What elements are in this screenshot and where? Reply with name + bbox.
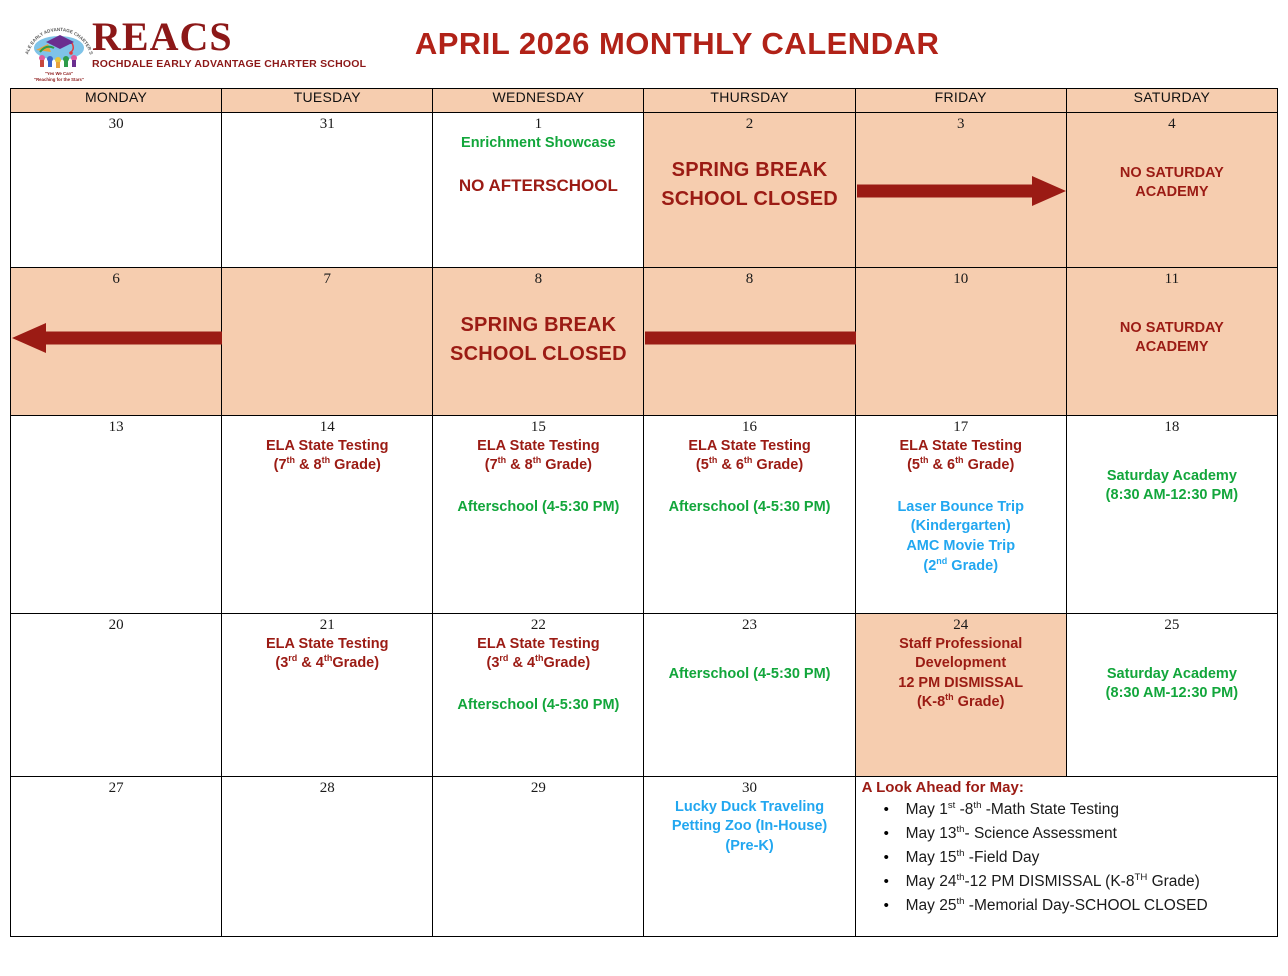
calendar-day-cell-28[interactable]: 28 [222, 777, 433, 937]
day-number: 17 [856, 416, 1066, 437]
event-text: Laser Bounce Trip [860, 498, 1062, 518]
event-text: ELA State Testing [226, 635, 428, 655]
day-number: 6 [11, 268, 221, 289]
calendar-day-cell-2[interactable]: 2SPRING BREAKSCHOOL CLOSED [644, 113, 855, 268]
day-events: SPRING BREAKSCHOOL CLOSED [644, 134, 854, 214]
logo-motto-2: "Reaching for the Stars" [34, 77, 84, 82]
weekday-header-monday: MONDAY [11, 89, 222, 113]
calendar-day-cell-21[interactable]: 21ELA State Testing(3rd & 4thGrade) [222, 614, 433, 777]
event-spacer [437, 476, 639, 498]
day-number: 28 [222, 777, 432, 798]
event-text: Afterschool (4-5:30 PM) [437, 498, 639, 518]
event-text: Lucky Duck Traveling [648, 798, 850, 818]
event-text: ELA State Testing [437, 437, 639, 457]
day-events: ELA State Testing(5th & 6th Grade)Laser … [856, 437, 1066, 576]
event-text: (Pre-K) [648, 837, 850, 857]
event-text: Saturday Academy [1071, 467, 1273, 487]
arrow-layer-week1 [856, 113, 1066, 267]
calendar-day-cell-1[interactable]: 1Enrichment ShowcaseNO AFTERSCHOOL [433, 113, 644, 268]
calendar-day-cell-30[interactable]: 30 [11, 113, 222, 268]
day-number: 10 [856, 268, 1066, 289]
event-spacer [437, 153, 639, 175]
calendar-day-cell-8[interactable]: 8 [644, 268, 855, 416]
weekday-header-tuesday: TUESDAY [222, 89, 433, 113]
calendar-week-row-3: 1314ELA State Testing(7th & 8th Grade)15… [11, 416, 1278, 614]
calendar-day-cell-6[interactable]: 6 [11, 268, 222, 416]
calendar-day-cell-29[interactable]: 29 [433, 777, 644, 937]
calendar-day-cell-4[interactable]: 4NO SATURDAYACADEMY [1066, 113, 1277, 268]
arrow-right-icon [857, 176, 1066, 206]
page-title: APRIL 2026 MONTHLY CALENDAR [366, 26, 1288, 62]
day-events: Lucky Duck TravelingPetting Zoo (In-Hous… [644, 798, 854, 857]
event-text: Staff Professional [860, 635, 1062, 655]
logo-subtitle: ROCHDALE EARLY ADVANTAGE CHARTER SCHOOL [92, 59, 366, 70]
page-header: ROCHDALE EARLY ADVANTAGE CHARTER SCHOOL [0, 0, 1288, 88]
calendar-day-cell-23[interactable]: 23Afterschool (4-5:30 PM) [644, 614, 855, 777]
weekday-header-friday: FRIDAY [855, 89, 1066, 113]
day-number: 2 [644, 113, 854, 134]
look-ahead-block: A Look Ahead for May:May 1st -8th -Math … [856, 777, 1277, 918]
event-text: ELA State Testing [226, 437, 428, 457]
day-events: Saturday Academy(8:30 AM-12:30 PM) [1067, 635, 1277, 704]
weekday-header-thursday: THURSDAY [644, 89, 855, 113]
event-text: AMC Movie Trip [860, 537, 1062, 557]
event-text: (2nd Grade) [860, 557, 1062, 577]
calendar-week-row-5: 27282930Lucky Duck TravelingPetting Zoo … [11, 777, 1278, 937]
day-number: 16 [644, 416, 854, 437]
day-events: NO SATURDAYACADEMY [1067, 289, 1277, 358]
calendar-day-cell-7[interactable]: 7 [222, 268, 433, 416]
event-text: (3rd & 4thGrade) [437, 654, 639, 674]
calendar-day-cell-14[interactable]: 14ELA State Testing(7th & 8th Grade) [222, 416, 433, 614]
event-text: ACADEMY [1071, 338, 1273, 358]
day-number: 30 [644, 777, 854, 798]
look-ahead-may-cell[interactable]: A Look Ahead for May:May 1st -8th -Math … [855, 777, 1277, 937]
calendar-day-cell-25[interactable]: 25Saturday Academy(8:30 AM-12:30 PM) [1066, 614, 1277, 777]
event-text: (K-8th Grade) [860, 693, 1062, 713]
day-events: NO SATURDAYACADEMY [1067, 134, 1277, 203]
weekday-header-row: MONDAYTUESDAYWEDNESDAYTHURSDAYFRIDAYSATU… [11, 89, 1278, 113]
day-events: Afterschool (4-5:30 PM) [644, 635, 854, 685]
day-events: ELA State Testing(7th & 8th Grade) [222, 437, 432, 476]
event-text: NO SATURDAY [1071, 319, 1273, 339]
day-number: 8 [644, 268, 854, 289]
look-ahead-item: May 1st -8th -Math State Testing [906, 798, 1271, 822]
event-text: Enrichment Showcase [437, 134, 639, 154]
look-ahead-item: May 24th-12 PM DISMISSAL (K-8TH Grade) [906, 870, 1271, 894]
look-ahead-title: A Look Ahead for May: [862, 779, 1271, 796]
event-text: NO SATURDAY [1071, 164, 1273, 184]
day-events: ELA State Testing(3rd & 4thGrade)Aftersc… [433, 635, 643, 716]
weekday-header-saturday: SATURDAY [1066, 89, 1277, 113]
event-text: (7th & 8th Grade) [226, 456, 428, 476]
day-number: 3 [856, 113, 1066, 134]
calendar-day-cell-16[interactable]: 16ELA State Testing(5th & 6th Grade)Afte… [644, 416, 855, 614]
event-text: (5th & 6th Grade) [860, 456, 1062, 476]
day-number: 4 [1067, 113, 1277, 134]
weekday-header-wednesday: WEDNESDAY [433, 89, 644, 113]
event-text: (8:30 AM-12:30 PM) [1071, 684, 1273, 704]
event-text: (Kindergarten) [860, 517, 1062, 537]
event-spacer [437, 674, 639, 696]
event-text: Afterschool (4-5:30 PM) [648, 498, 850, 518]
event-text: Development [860, 654, 1062, 674]
event-text: (7th & 8th Grade) [437, 456, 639, 476]
logo-motto-1: "Yes We Can" [45, 71, 73, 76]
event-text: SPRING BREAK [648, 156, 850, 185]
event-text: ACADEMY [1071, 183, 1273, 203]
event-spacer [648, 134, 850, 156]
calendar-day-cell-27[interactable]: 27 [11, 777, 222, 937]
calendar-day-cell-3[interactable]: 3 [855, 113, 1066, 268]
day-number: 21 [222, 614, 432, 635]
school-logo: ROCHDALE EARLY ADVANTAGE CHARTER SCHOOL [18, 8, 366, 80]
day-number: 1 [433, 113, 643, 134]
calendar-week-row-1: 30311Enrichment ShowcaseNO AFTERSCHOOL2S… [11, 113, 1278, 268]
event-text: SCHOOL CLOSED [437, 340, 639, 369]
calendar-day-cell-22[interactable]: 22ELA State Testing(3rd & 4thGrade)After… [433, 614, 644, 777]
event-spacer [648, 476, 850, 498]
calendar-day-cell-24[interactable]: 24Staff ProfessionalDevelopment12 PM DIS… [855, 614, 1066, 777]
monthly-calendar-table: MONDAYTUESDAYWEDNESDAYTHURSDAYFRIDAYSATU… [10, 88, 1278, 937]
calendar-day-cell-10[interactable]: 10 [855, 268, 1066, 416]
event-text: SPRING BREAK [437, 311, 639, 340]
day-number: 7 [222, 268, 432, 289]
day-number: 15 [433, 416, 643, 437]
day-events: ELA State Testing(3rd & 4thGrade) [222, 635, 432, 674]
calendar-day-cell-20[interactable]: 20 [11, 614, 222, 777]
event-spacer [1071, 437, 1273, 467]
school-crest-icon: ROCHDALE EARLY ADVANTAGE CHARTER SCHOOL [18, 8, 90, 80]
day-number: 24 [856, 614, 1066, 635]
day-events: Saturday Academy(8:30 AM-12:30 PM) [1067, 437, 1277, 506]
arrow-layer-week2-left [11, 268, 221, 415]
event-spacer [1071, 289, 1273, 319]
day-events: Staff ProfessionalDevelopment12 PM DISMI… [856, 635, 1066, 713]
logo-wordmark: REACS ROCHDALE EARLY ADVANTAGE CHARTER S… [92, 18, 366, 70]
day-number: 29 [433, 777, 643, 798]
day-events: Enrichment ShowcaseNO AFTERSCHOOL [433, 134, 643, 199]
calendar-day-cell-8[interactable]: 8SPRING BREAKSCHOOL CLOSED [433, 268, 644, 416]
event-text: Afterschool (4-5:30 PM) [648, 665, 850, 685]
logo-acronym: REACS [92, 18, 366, 56]
event-text: ELA State Testing [648, 437, 850, 457]
event-text: Afterschool (4-5:30 PM) [437, 696, 639, 716]
event-spacer [860, 476, 1062, 498]
event-text: NO AFTERSCHOOL [437, 175, 639, 198]
day-number: 11 [1067, 268, 1277, 289]
day-events: SPRING BREAKSCHOOL CLOSED [433, 289, 643, 369]
day-number: 22 [433, 614, 643, 635]
day-number: 14 [222, 416, 432, 437]
day-number: 31 [222, 113, 432, 134]
calendar-day-cell-15[interactable]: 15ELA State Testing(7th & 8th Grade)Afte… [433, 416, 644, 614]
day-number: 30 [11, 113, 221, 134]
day-number: 23 [644, 614, 854, 635]
calendar-week-row-4: 2021ELA State Testing(3rd & 4thGrade)22E… [11, 614, 1278, 777]
event-text: SCHOOL CLOSED [648, 185, 850, 214]
day-events: ELA State Testing(7th & 8th Grade)Afters… [433, 437, 643, 518]
day-number: 27 [11, 777, 221, 798]
event-text: (3rd & 4thGrade) [226, 654, 428, 674]
event-spacer [648, 635, 850, 665]
event-text: Saturday Academy [1071, 665, 1273, 685]
event-text: ELA State Testing [437, 635, 639, 655]
calendar-day-cell-31[interactable]: 31 [222, 113, 433, 268]
day-number: 20 [11, 614, 221, 635]
event-spacer [1071, 635, 1273, 665]
day-number: 18 [1067, 416, 1277, 437]
event-text: (8:30 AM-12:30 PM) [1071, 486, 1273, 506]
event-text: ELA State Testing [860, 437, 1062, 457]
look-ahead-item: May 25th -Memorial Day-SCHOOL CLOSED [906, 894, 1271, 918]
day-number: 13 [11, 416, 221, 437]
event-spacer [437, 289, 639, 311]
look-ahead-item: May 13th- Science Assessment [906, 822, 1271, 846]
look-ahead-item: May 15th -Field Day [906, 846, 1271, 870]
event-spacer [1071, 134, 1273, 164]
calendar-day-cell-17[interactable]: 17ELA State Testing(5th & 6th Grade)Lase… [855, 416, 1066, 614]
look-ahead-list: May 1st -8th -Math State TestingMay 13th… [862, 798, 1271, 918]
arrow-layer-week2-right [644, 268, 854, 415]
day-number: 8 [433, 268, 643, 289]
day-events: ELA State Testing(5th & 6th Grade)Afters… [644, 437, 854, 518]
event-text: Petting Zoo (In-House) [648, 817, 850, 837]
event-text: 12 PM DISMISSAL [860, 674, 1062, 694]
calendar-day-cell-11[interactable]: 11NO SATURDAYACADEMY [1066, 268, 1277, 416]
calendar-day-cell-13[interactable]: 13 [11, 416, 222, 614]
calendar-day-cell-18[interactable]: 18Saturday Academy(8:30 AM-12:30 PM) [1066, 416, 1277, 614]
calendar-container: MONDAYTUESDAYWEDNESDAYTHURSDAYFRIDAYSATU… [0, 88, 1288, 937]
calendar-day-cell-30[interactable]: 30Lucky Duck TravelingPetting Zoo (In-Ho… [644, 777, 855, 937]
event-text: (5th & 6th Grade) [648, 456, 850, 476]
calendar-week-row-2: 6 78SPRING BREAKSCHOOL CLOSED8 1011NO SA… [11, 268, 1278, 416]
day-number: 25 [1067, 614, 1277, 635]
